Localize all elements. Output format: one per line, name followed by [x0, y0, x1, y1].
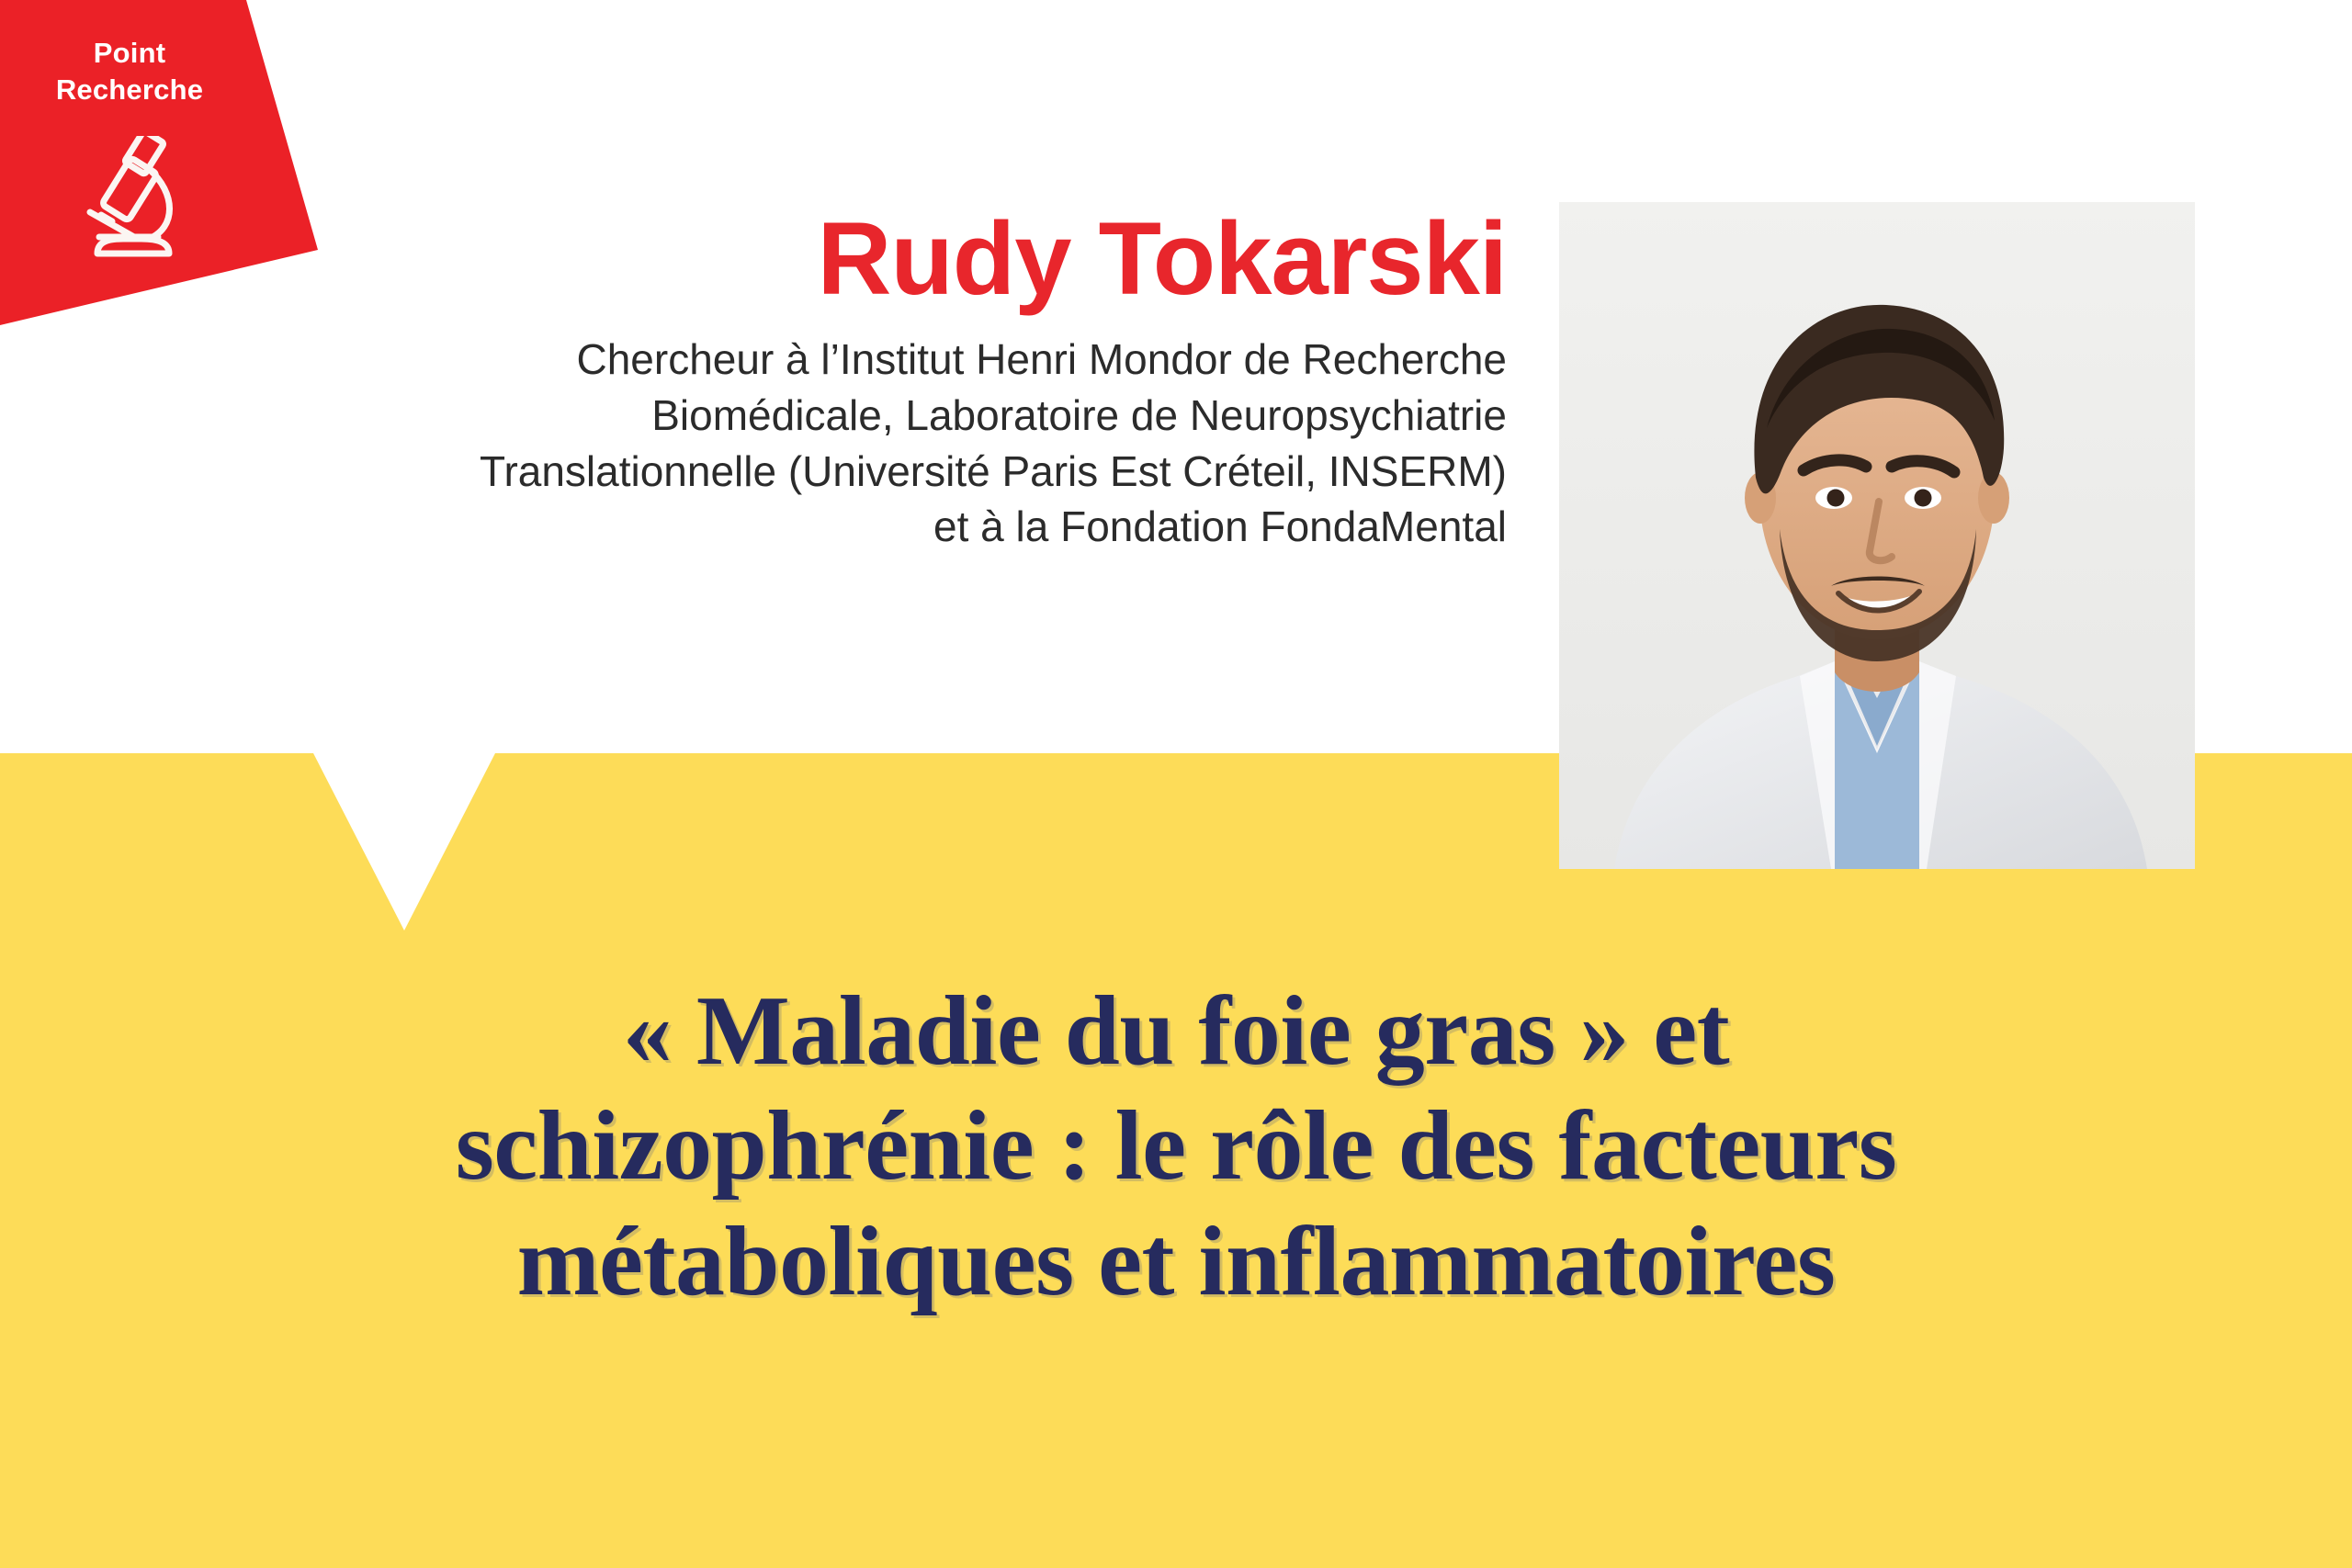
presentation-title: « Maladie du foie gras » et schizophréni… [110, 974, 2242, 1319]
speaker-name: Rudy Tokarski [276, 207, 1507, 311]
speaker-affiliation: Chercheur à l’Institut Henri Mondor de R… [276, 332, 1507, 555]
badge-label: Point Recherche [0, 35, 259, 107]
microscope-icon [81, 136, 191, 257]
point-recherche-badge: Point Recherche [0, 0, 318, 331]
slide-canvas: Point Recherche Rudy Tokarski Ch [0, 0, 2352, 1568]
portrait-illustration [1559, 202, 2195, 869]
speaker-block: Rudy Tokarski Chercheur à l’Institut Hen… [276, 207, 1507, 555]
speaker-portrait [1559, 202, 2195, 869]
